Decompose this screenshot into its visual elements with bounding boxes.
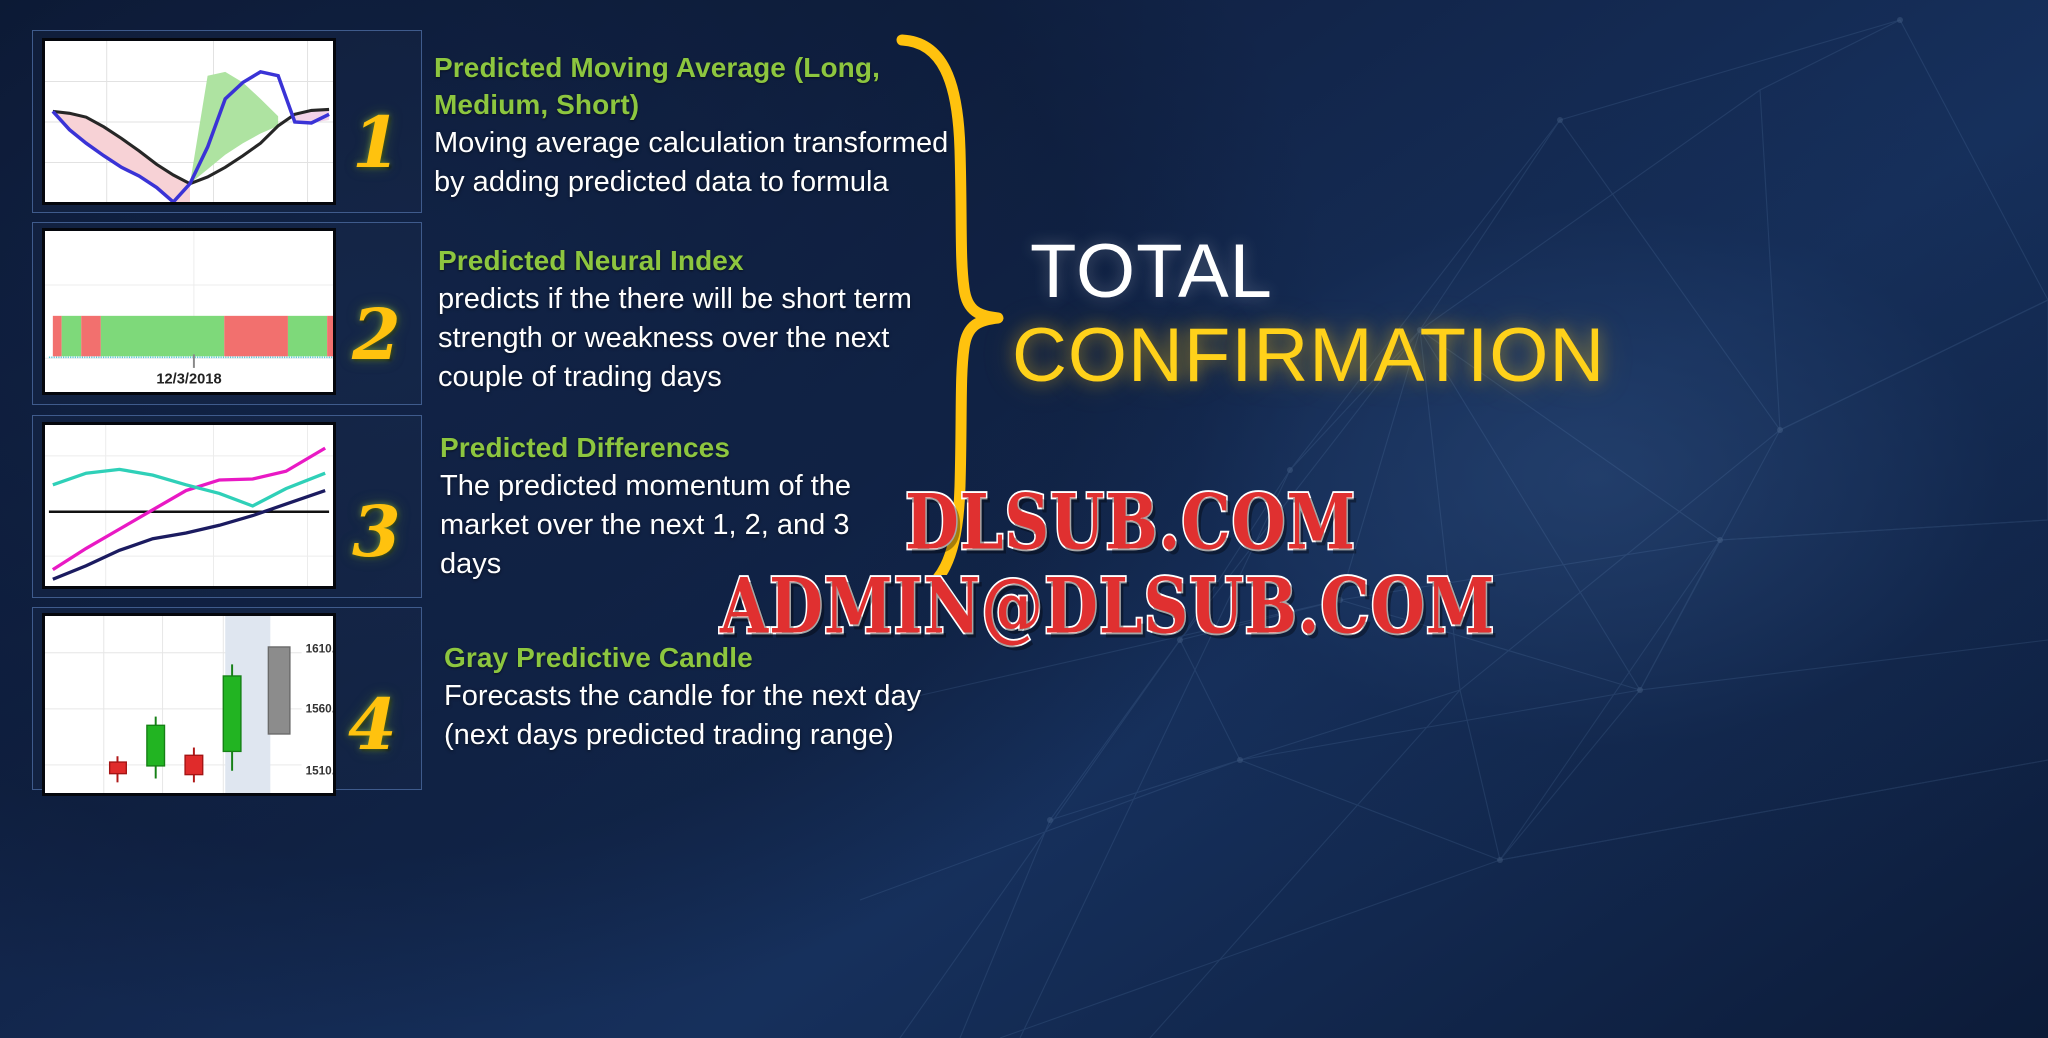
predicted-gray-candle [268,647,290,734]
date-axis-label: 12/3/2018 [156,371,221,387]
neural-index-bars [53,316,333,356]
headline-confirmation: CONFIRMATION [1012,312,1605,399]
feature-4-body: Forecasts the candle for the next day (n… [444,677,944,755]
price-tick-1510: 1510.00 [306,765,333,778]
feature-1-number: 1 [352,108,401,178]
price-tick-1610: 1610.00 [306,643,333,656]
gray-predictive-candle-chart: 1610.00 1560.00 1510.00 [42,613,336,796]
feature-3-number: 3 [352,497,401,567]
predicted-differences-chart [42,422,336,589]
infographic-root: 1 Predicted Moving Average (Long, Medium… [0,0,2048,1038]
feature-2-text: Predicted Neural Index predicts if the t… [438,243,938,397]
watermark-site: DLSUB.COM [905,478,1356,567]
feature-2-title: Predicted Neural Index [438,243,938,280]
headline-total: TOTAL [1030,228,1273,315]
feature-4-number: 4 [348,690,397,760]
feature-2-number: 2 [352,300,401,370]
price-tick-1560: 1560.00 [306,703,333,716]
feature-2-body: predicts if the there will be short term… [438,280,938,397]
feature-3-title: Predicted Differences [440,430,910,467]
feature-3-text: Predicted Differences The predicted mome… [440,430,910,584]
feature-4-text: Gray Predictive Candle Forecasts the can… [444,640,944,755]
predicted-neural-index-chart: 12/3/2018 [42,228,336,395]
predicted-moving-average-chart [42,38,336,205]
watermark-email: ADMIN@DLSUB.COM [720,562,1495,651]
